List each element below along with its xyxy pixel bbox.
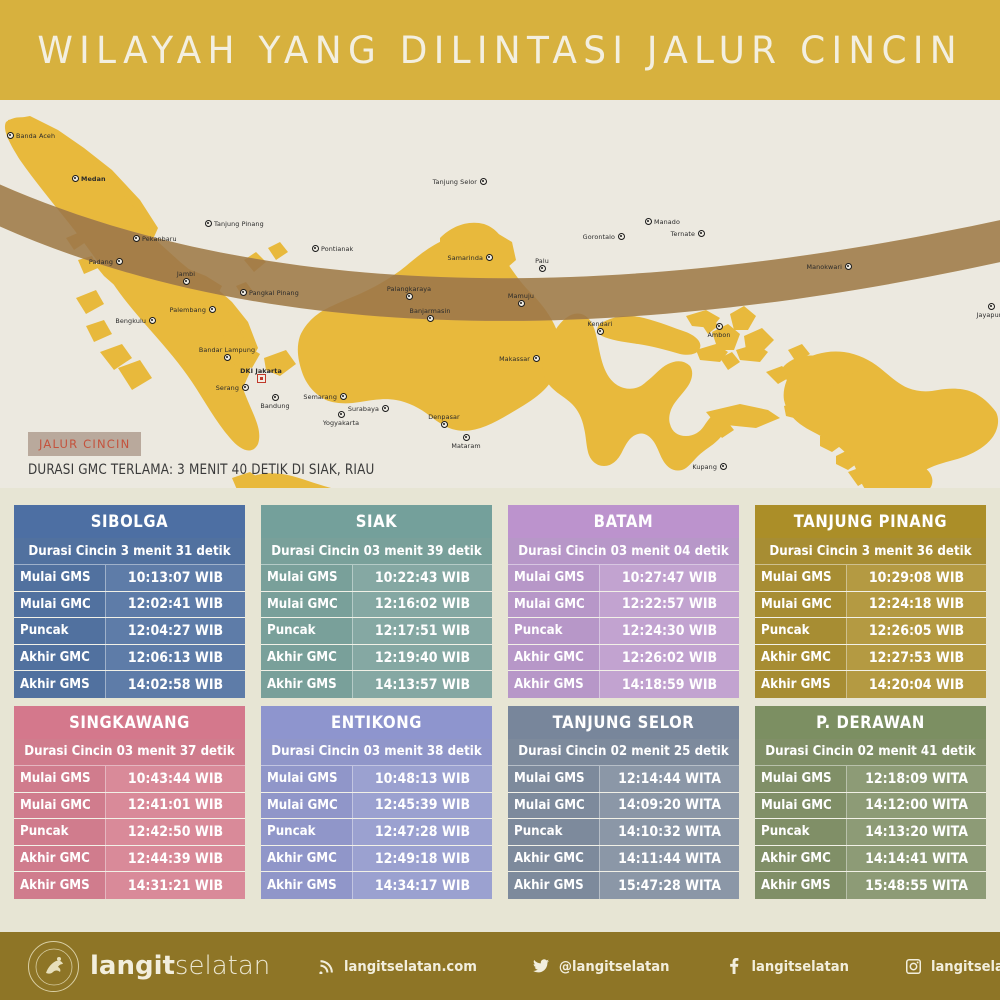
row-label: Akhir GMS: [261, 872, 353, 899]
city-label: Makassar: [499, 355, 530, 363]
city-label: Pekanbaru: [142, 235, 177, 243]
city-marker: [441, 421, 448, 428]
table-row: Mulai GMS10:22:43 WIB: [261, 565, 492, 592]
row-label: Mulai GMS: [261, 565, 353, 591]
city-marker: [338, 411, 345, 418]
island-siberut: [76, 290, 104, 314]
social-label: langitselatan.com: [344, 958, 477, 975]
city-label: Ambon: [707, 331, 730, 339]
row-value: 12:24:18 WIB: [847, 592, 986, 618]
table-row: Mulai GMS10:13:07 WIB: [14, 565, 245, 592]
timing-card: SINGKAWANGDurasi Cincin 03 menit 37 deti…: [14, 706, 245, 899]
row-label: Mulai GMS: [508, 565, 600, 591]
table-row: Akhir GMC14:14:41 WITA: [755, 846, 986, 873]
row-label: Akhir GMS: [261, 671, 353, 698]
card-duration: Durasi Cincin 3 menit 36 detik: [755, 538, 986, 565]
page-title: WILAYAH YANG DILINTASI JALUR CINCIN: [37, 29, 963, 72]
table-row: Puncak12:24:30 WIB: [508, 618, 739, 645]
social-link-twitter[interactable]: @langitselatan: [533, 958, 670, 975]
social-label: langitselatan: [752, 958, 849, 975]
row-label: Mulai GMC: [755, 592, 847, 618]
city-marker: [845, 263, 852, 270]
row-value: 12:06:13 WIB: [106, 645, 245, 671]
row-label: Mulai GMS: [261, 766, 353, 792]
social-link-facebook[interactable]: langitselatan: [726, 958, 849, 975]
row-value: 10:13:07 WIB: [106, 565, 245, 591]
row-value: 12:22:57 WIB: [600, 592, 739, 618]
city-label: Semarang: [303, 393, 337, 401]
row-label: Mulai GMC: [14, 592, 106, 618]
row-value: 14:10:32 WITA: [600, 819, 739, 845]
row-value: 12:49:18 WIB: [353, 846, 492, 872]
brand-light: selatan: [175, 951, 270, 981]
city-label: Manokwari: [806, 263, 842, 271]
card-duration: Durasi Cincin 02 menit 41 detik: [755, 739, 986, 766]
row-value: 14:13:57 WIB: [353, 671, 492, 698]
city-label: Yogyakarta: [323, 419, 359, 427]
row-value: 14:31:21 WIB: [106, 872, 245, 899]
card-title: P. DERAWAN: [755, 706, 986, 739]
indonesia-map: [0, 100, 1000, 488]
city-marker: [480, 178, 487, 185]
table-row: Akhir GMS14:31:21 WIB: [14, 872, 245, 899]
city-marker: [698, 230, 705, 237]
card-duration: Durasi Cincin 02 menit 25 detik: [508, 739, 739, 766]
city-label: Mataram: [451, 442, 480, 450]
sulawesi-north-arm: [597, 316, 700, 355]
row-value: 14:20:04 WIB: [847, 671, 986, 698]
row-value: 15:48:55 WITA: [847, 872, 986, 899]
table-row: Akhir GMS14:02:58 WIB: [14, 671, 245, 698]
facebook-icon: [726, 958, 743, 975]
row-value: 12:26:02 WIB: [600, 645, 739, 671]
row-value: 15:47:28 WITA: [600, 872, 739, 899]
city-marker: [209, 306, 216, 313]
table-row: Mulai GMC12:45:39 WIB: [261, 793, 492, 820]
twitter-icon: [533, 958, 550, 975]
footer-bar: langitselatan langitselatan.com@langitse…: [0, 932, 1000, 1000]
city-marker: [242, 384, 249, 391]
city-marker: [406, 293, 413, 300]
row-label: Akhir GMC: [14, 645, 106, 671]
city-label: Gorontalo: [583, 233, 615, 241]
row-label: Akhir GMC: [508, 645, 600, 671]
row-label: Puncak: [14, 618, 106, 644]
card-duration: Durasi Cincin 3 menit 31 detik: [14, 538, 245, 565]
table-row: Puncak12:17:51 WIB: [261, 618, 492, 645]
duration-note: DURASI GMC TERLAMA: 3 MENIT 40 DETIK DI …: [28, 462, 374, 478]
table-row: Mulai GMS12:18:09 WITA: [755, 766, 986, 793]
city-marker: [272, 394, 279, 401]
instagram-icon: [905, 958, 922, 975]
island-enggano: [118, 360, 152, 390]
row-value: 12:02:41 WIB: [106, 592, 245, 618]
city-label: Ternate: [671, 230, 695, 238]
city-label: Jambi: [177, 270, 195, 278]
row-label: Akhir GMS: [755, 671, 847, 698]
rss-icon: [318, 958, 335, 975]
legend-chip: JALUR CINCIN: [28, 432, 141, 456]
row-label: Mulai GMS: [755, 766, 847, 792]
row-label: Puncak: [261, 819, 353, 845]
city-label: Denpasar: [428, 413, 460, 421]
row-label: Akhir GMS: [14, 872, 106, 899]
table-row: Mulai GMC12:24:18 WIB: [755, 592, 986, 619]
table-row: Akhir GMS14:34:17 WIB: [261, 872, 492, 899]
card-duration: Durasi Cincin 03 menit 37 detik: [14, 739, 245, 766]
city-marker: [463, 434, 470, 441]
table-row: Mulai GMC12:41:01 WIB: [14, 793, 245, 820]
card-title: BATAM: [508, 505, 739, 538]
city-label: Palu: [535, 257, 549, 265]
city-label: Kupang: [692, 463, 717, 471]
row-value: 12:27:53 WIB: [847, 645, 986, 671]
city-label: Medan: [81, 175, 106, 183]
row-label: Akhir GMS: [755, 872, 847, 899]
row-label: Puncak: [508, 819, 600, 845]
row-label: Mulai GMS: [14, 565, 106, 591]
card-duration: Durasi Cincin 03 menit 39 detik: [261, 538, 492, 565]
city-label: Kendari: [588, 320, 613, 328]
row-label: Mulai GMS: [755, 565, 847, 591]
row-label: Mulai GMC: [508, 793, 600, 819]
row-label: Akhir GMC: [14, 846, 106, 872]
row-value: 10:43:44 WIB: [106, 766, 245, 792]
row-value: 12:45:39 WIB: [353, 793, 492, 819]
card-title: TANJUNG PINANG: [755, 505, 986, 538]
social-label: langitselatanmedia: [931, 958, 1000, 975]
row-label: Akhir GMS: [508, 872, 600, 899]
table-row: Mulai GMS12:14:44 WITA: [508, 766, 739, 793]
city-label: Mamuju: [508, 292, 534, 300]
city-marker: [988, 303, 995, 310]
city-label: Bandung: [260, 402, 289, 410]
row-label: Mulai GMC: [261, 592, 353, 618]
city-label: Palembang: [170, 306, 206, 314]
city-marker: [618, 233, 625, 240]
city-label: Bengkulu: [115, 317, 146, 325]
langitselatan-logo: [28, 941, 79, 992]
table-row: Mulai GMS10:48:13 WIB: [261, 766, 492, 793]
city-marker: [427, 315, 434, 322]
table-row: Mulai GMC14:12:00 WITA: [755, 793, 986, 820]
row-value: 14:34:17 WIB: [353, 872, 492, 899]
row-value: 12:24:30 WIB: [600, 618, 739, 644]
row-value: 12:18:09 WITA: [847, 766, 986, 792]
island-sipora: [86, 320, 112, 342]
timing-card: ENTIKONGDurasi Cincin 03 menit 38 detikM…: [261, 706, 492, 899]
table-row: Akhir GMC12:44:39 WIB: [14, 846, 245, 873]
city-label: Jayapura: [977, 311, 1000, 319]
table-row: Akhir GMC12:26:02 WIB: [508, 645, 739, 672]
table-row: Puncak14:13:20 WITA: [755, 819, 986, 846]
social-links: langitselatan.com@langitselatanlangitsel…: [318, 932, 1000, 1000]
city-marker: [539, 265, 546, 272]
timing-card: SIAKDurasi Cincin 03 menit 39 detikMulai…: [261, 505, 492, 698]
city-marker: [240, 289, 247, 296]
city-label: Banjarmasin: [410, 307, 451, 315]
infographic-page: WILAYAH YANG DILINTASI JALUR CINCIN: [0, 0, 1000, 1000]
city-marker: [205, 220, 212, 227]
card-duration: Durasi Cincin 03 menit 38 detik: [261, 739, 492, 766]
city-marker: [382, 405, 389, 412]
table-row: Mulai GMS10:43:44 WIB: [14, 766, 245, 793]
row-value: 12:04:27 WIB: [106, 618, 245, 644]
row-label: Akhir GMS: [508, 671, 600, 698]
card-duration: Durasi Cincin 03 menit 04 detik: [508, 538, 739, 565]
row-value: 12:47:28 WIB: [353, 819, 492, 845]
table-row: Puncak12:26:05 WIB: [755, 618, 986, 645]
row-value: 12:14:44 WITA: [600, 766, 739, 792]
row-label: Akhir GMC: [755, 846, 847, 872]
timing-card: SIBOLGADurasi Cincin 3 menit 31 detikMul…: [14, 505, 245, 698]
city-label: Pontianak: [321, 245, 353, 253]
social-label: @langitselatan: [559, 958, 670, 975]
row-label: Akhir GMC: [261, 645, 353, 671]
city-label: Banda Aceh: [16, 132, 55, 140]
table-row: Mulai GMC14:09:20 WITA: [508, 793, 739, 820]
row-label: Mulai GMC: [755, 793, 847, 819]
row-value: 14:11:44 WITA: [600, 846, 739, 872]
city-marker: [597, 328, 604, 335]
table-row: Akhir GMS15:48:55 WITA: [755, 872, 986, 899]
row-value: 10:29:08 WIB: [847, 565, 986, 591]
table-row: Mulai GMS10:29:08 WIB: [755, 565, 986, 592]
city-marker: [133, 235, 140, 242]
city-label: DKI Jakarta: [240, 367, 282, 375]
table-row: Akhir GMC12:27:53 WIB: [755, 645, 986, 672]
row-label: Mulai GMC: [508, 592, 600, 618]
table-row: Mulai GMC12:02:41 WIB: [14, 592, 245, 619]
table-row: Akhir GMC12:49:18 WIB: [261, 846, 492, 873]
row-value: 12:19:40 WIB: [353, 645, 492, 671]
row-label: Akhir GMC: [755, 645, 847, 671]
row-label: Akhir GMS: [14, 671, 106, 698]
table-row: Akhir GMS15:47:28 WITA: [508, 872, 739, 899]
city-label: Surabaya: [348, 405, 379, 413]
row-value: 14:09:20 WITA: [600, 793, 739, 819]
city-marker: [72, 175, 79, 182]
timing-card: TANJUNG PINANGDurasi Cincin 3 menit 36 d…: [755, 505, 986, 698]
city-marker: [116, 258, 123, 265]
row-value: 14:18:59 WIB: [600, 671, 739, 698]
row-label: Puncak: [508, 618, 600, 644]
table-row: Puncak12:04:27 WIB: [14, 618, 245, 645]
legend-row: JALUR CINCIN: [28, 432, 141, 456]
row-value: 10:27:47 WIB: [600, 565, 739, 591]
card-title: SIBOLGA: [14, 505, 245, 538]
card-title: ENTIKONG: [261, 706, 492, 739]
row-value: 10:22:43 WIB: [353, 565, 492, 591]
timing-card: BATAMDurasi Cincin 03 menit 04 detikMula…: [508, 505, 739, 698]
row-value: 12:16:02 WIB: [353, 592, 492, 618]
city-label: Serang: [216, 384, 239, 392]
row-value: 14:02:58 WIB: [106, 671, 245, 698]
card-title: SIAK: [261, 505, 492, 538]
row-label: Mulai GMS: [14, 766, 106, 792]
row-value: 12:41:01 WIB: [106, 793, 245, 819]
row-label: Mulai GMC: [261, 793, 353, 819]
city-marker: [518, 300, 525, 307]
social-link-rss[interactable]: langitselatan.com: [318, 958, 477, 975]
map-panel: JALUR CINCIN DURASI GMC TERLAMA: 3 MENIT…: [0, 100, 1000, 488]
table-row: Akhir GMS14:18:59 WIB: [508, 671, 739, 698]
city-marker: [312, 245, 319, 252]
row-label: Akhir GMC: [261, 846, 353, 872]
table-row: Akhir GMS14:13:57 WIB: [261, 671, 492, 698]
row-label: Puncak: [261, 618, 353, 644]
row-label: Mulai GMC: [14, 793, 106, 819]
city-label: Manado: [654, 218, 680, 226]
island-halmahera-n: [730, 306, 756, 330]
city-marker: [183, 278, 190, 285]
timing-card: TANJUNG SELORDurasi Cincin 02 menit 25 d…: [508, 706, 739, 899]
city-marker: [486, 254, 493, 261]
card-title: TANJUNG SELOR: [508, 706, 739, 739]
row-label: Puncak: [755, 819, 847, 845]
island-kalimantan: [298, 232, 561, 430]
city-timing-cards: SIBOLGADurasi Cincin 3 menit 31 detikMul…: [14, 505, 986, 899]
table-row: Akhir GMC12:19:40 WIB: [261, 645, 492, 672]
city-label: Palangkaraya: [387, 285, 431, 293]
row-value: 12:42:50 WIB: [106, 819, 245, 845]
timing-card: P. DERAWANDurasi Cincin 02 menit 41 deti…: [755, 706, 986, 899]
row-value: 14:14:41 WITA: [847, 846, 986, 872]
city-label: Padang: [89, 258, 113, 266]
city-marker: [533, 355, 540, 362]
city-marker: [645, 218, 652, 225]
brand-wordmark: langitselatan: [90, 951, 270, 981]
brand-bold: langit: [90, 951, 175, 981]
city-label: Pangkal Pinang: [249, 289, 299, 297]
table-row: Mulai GMS10:27:47 WIB: [508, 565, 739, 592]
table-row: Mulai GMC12:16:02 WIB: [261, 592, 492, 619]
city-label: Tanjung Pinang: [214, 220, 264, 228]
row-value: 12:17:51 WIB: [353, 618, 492, 644]
city-marker: [224, 354, 231, 361]
city-marker: [716, 323, 723, 330]
island-halmahera-e: [744, 328, 774, 352]
row-value: 12:26:05 WIB: [847, 618, 986, 644]
island-natuna2: [268, 242, 288, 260]
table-row: Puncak14:10:32 WITA: [508, 819, 739, 846]
row-label: Puncak: [14, 819, 106, 845]
table-row: Mulai GMC12:22:57 WIB: [508, 592, 739, 619]
table-row: Puncak12:47:28 WIB: [261, 819, 492, 846]
row-label: Puncak: [755, 618, 847, 644]
row-value: 14:13:20 WITA: [847, 819, 986, 845]
city-label: Samarinda: [448, 254, 483, 262]
card-title: SINGKAWANG: [14, 706, 245, 739]
city-marker: [149, 317, 156, 324]
city-label: Bandar Lampung: [199, 346, 255, 354]
city-marker: [720, 463, 727, 470]
row-label: Mulai GMS: [508, 766, 600, 792]
city-label: Tanjung Selor: [433, 178, 477, 186]
row-label: Akhir GMC: [508, 846, 600, 872]
table-row: Akhir GMC12:06:13 WIB: [14, 645, 245, 672]
city-marker: [340, 393, 347, 400]
row-value: 12:44:39 WIB: [106, 846, 245, 872]
row-value: 14:12:00 WITA: [847, 793, 986, 819]
city-marker: [7, 132, 14, 139]
social-link-instagram[interactable]: langitselatanmedia: [905, 958, 1000, 975]
table-row: Puncak12:42:50 WIB: [14, 819, 245, 846]
table-row: Akhir GMC14:11:44 WITA: [508, 846, 739, 873]
row-value: 10:48:13 WIB: [353, 766, 492, 792]
table-row: Akhir GMS14:20:04 WIB: [755, 671, 986, 698]
header-bar: WILAYAH YANG DILINTASI JALUR CINCIN: [0, 0, 1000, 100]
